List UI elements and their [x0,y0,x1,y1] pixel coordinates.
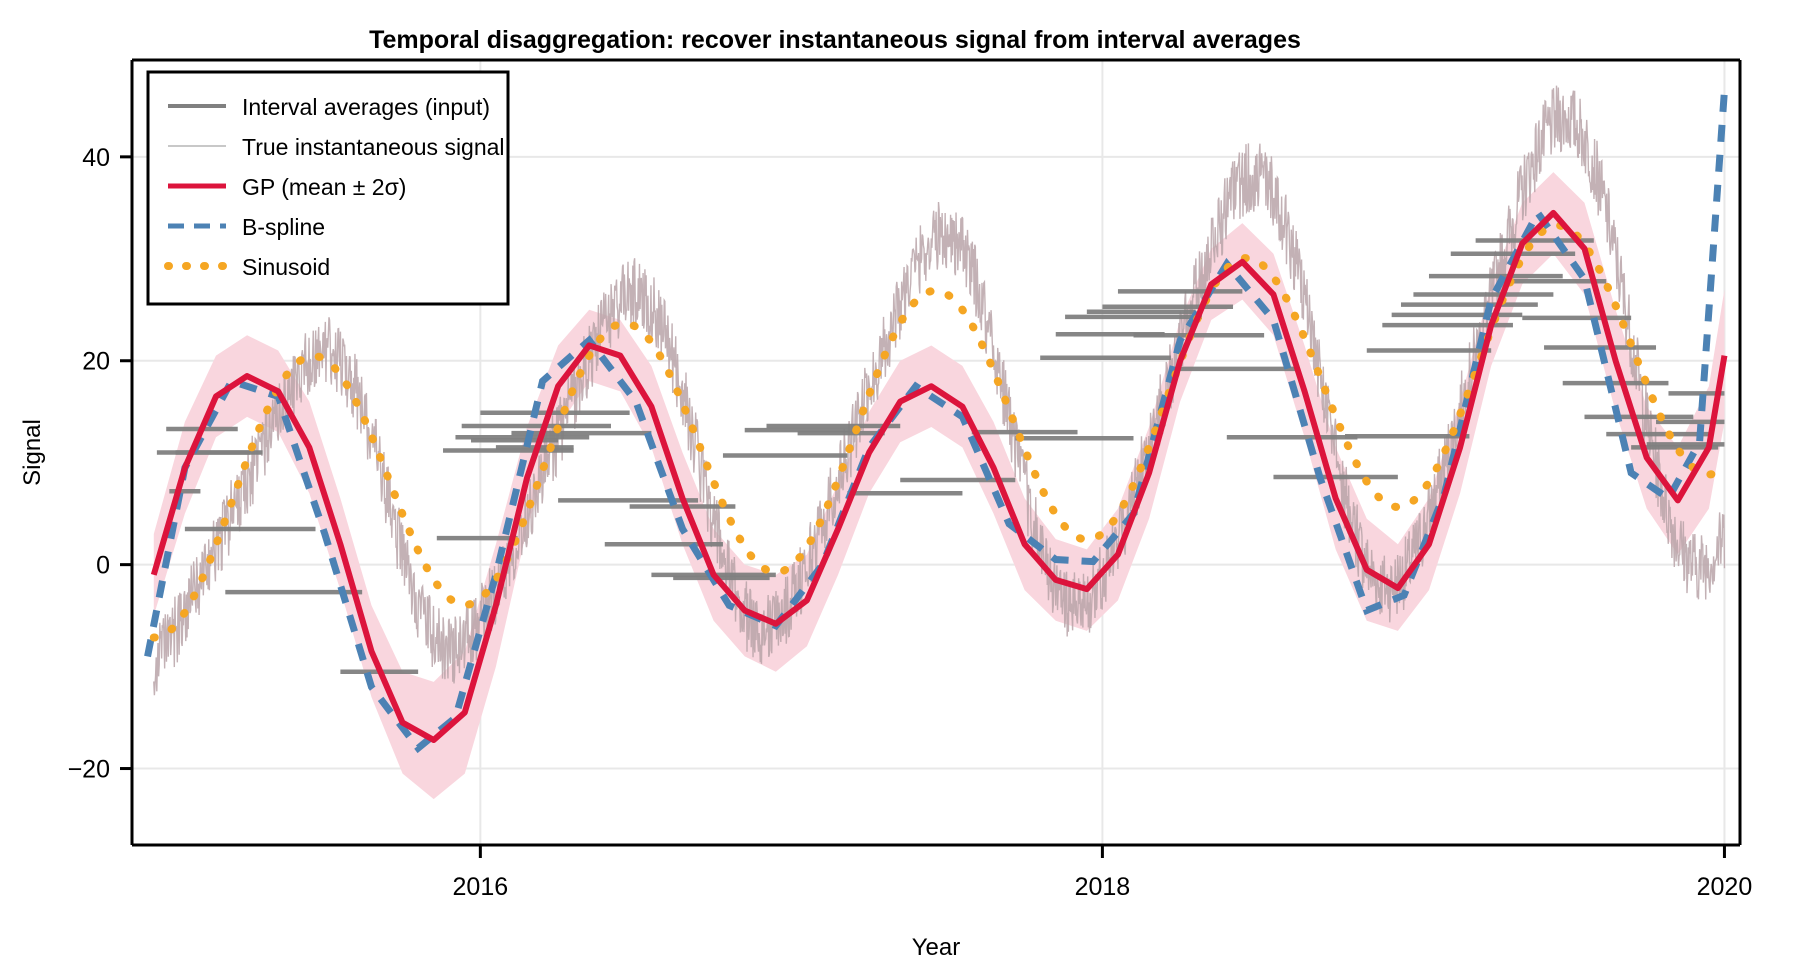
y-tick-label: −20 [68,756,110,784]
chart-title: Temporal disaggregation: recover instant… [369,26,1301,54]
y-tick-label: 40 [82,144,110,172]
chart-legend[interactable]: Interval averages (input)True instantane… [148,72,508,304]
legend-label[interactable]: B-spline [242,214,325,240]
x-tick-label: 2016 [453,873,509,901]
legend-label[interactable]: Interval averages (input) [242,94,490,120]
y-axis-label: Signal [19,419,46,486]
legend-label[interactable]: GP (mean ± 2σ) [242,174,406,200]
y-tick-label: 20 [82,348,110,376]
x-tick-label: 2020 [1697,873,1753,901]
temporal-disaggregation-chart: Temporal disaggregation: recover instant… [0,0,1800,960]
legend-label[interactable]: True instantaneous signal [242,134,505,160]
chart-page: Temporal disaggregation: recover instant… [0,0,1800,960]
y-tick-label: 0 [96,552,110,580]
x-tick-label: 2018 [1075,873,1131,901]
legend-label[interactable]: Sinusoid [242,254,330,280]
x-axis-label: Year [912,934,961,960]
